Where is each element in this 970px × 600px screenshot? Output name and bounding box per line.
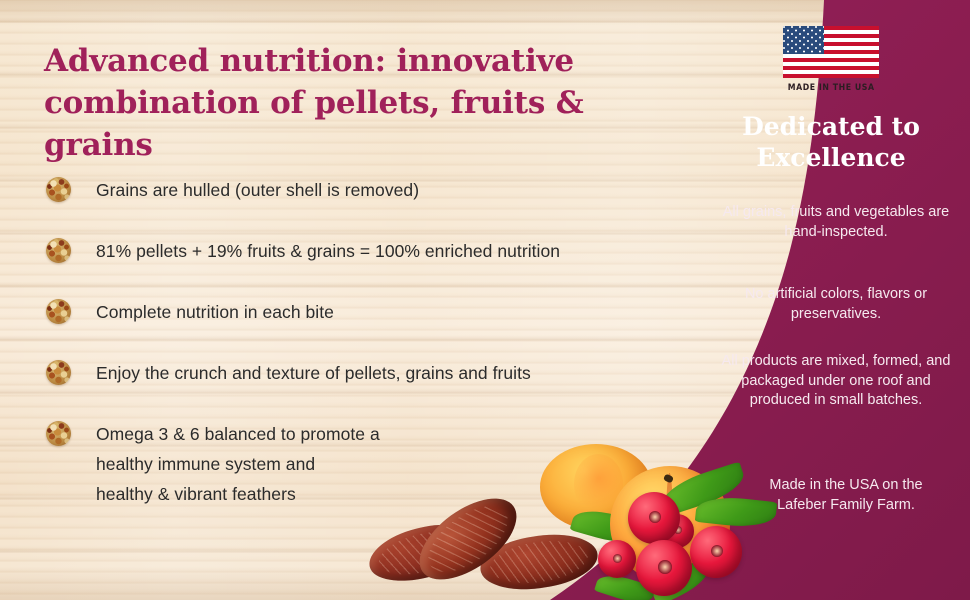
pellet-icon xyxy=(46,360,71,385)
list-item-label: Grains are hulled (outer shell is remove… xyxy=(96,175,684,205)
panel-heading-line-1: Dedicated to xyxy=(692,112,970,143)
headline-line-2: combination of pellets, fruits & grains xyxy=(44,82,684,166)
page-title: Advanced nutrition: innovative combinati… xyxy=(44,40,684,166)
usa-flag-icon xyxy=(783,26,879,78)
list-item-label: Enjoy the crunch and texture of pellets,… xyxy=(96,358,684,388)
list-item-line: Enjoy the crunch and texture of pellets,… xyxy=(96,358,684,388)
list-item-line: 81% pellets + 19% fruits & grains = 100%… xyxy=(96,236,684,266)
list-item-line: Complete nutrition in each bite xyxy=(96,297,684,327)
list-item-label: 81% pellets + 19% fruits & grains = 100%… xyxy=(96,236,684,266)
pellet-icon xyxy=(46,177,71,202)
panel-heading: Dedicated to Excellence xyxy=(692,112,970,173)
flag-caption: MADE IN THE USA xyxy=(788,83,875,93)
flag-canton xyxy=(783,26,824,54)
right-info-panel: MADE IN THE USA Dedicated to Excellence … xyxy=(692,0,970,600)
panel-paragraph-3: All products are mixed, formed, and pack… xyxy=(720,352,952,411)
panel-paragraph-2: No artificial colors, flavors or preserv… xyxy=(720,285,952,324)
list-item-line: Grains are hulled (outer shell is remove… xyxy=(96,175,684,205)
headline-line-1: Advanced nutrition: innovative xyxy=(44,43,574,79)
list-item: Grains are hulled (outer shell is remove… xyxy=(44,175,684,236)
list-item: Complete nutrition in each bite xyxy=(44,297,684,358)
pellet-icon xyxy=(46,421,71,446)
list-item: 81% pellets + 19% fruits & grains = 100%… xyxy=(44,236,684,297)
cranberry-icon xyxy=(628,492,680,544)
panel-paragraph-1: All grains, fruits and vegetables are ha… xyxy=(720,203,952,242)
panel-paragraph-4: Made in the USA on the Lafeber Family Fa… xyxy=(752,476,940,515)
cranberry-icon xyxy=(598,540,636,578)
promo-banner: Advanced nutrition: innovative combinati… xyxy=(0,0,970,600)
list-item: Enjoy the crunch and texture of pellets,… xyxy=(44,358,684,419)
pellet-icon xyxy=(46,299,71,324)
pellet-icon xyxy=(46,238,71,263)
made-in-usa-badge: MADE IN THE USA xyxy=(692,26,970,93)
panel-heading-line-2: Excellence xyxy=(692,143,970,174)
list-item-label: Complete nutrition in each bite xyxy=(96,297,684,327)
flag-stars xyxy=(783,26,824,54)
cranberry-icon xyxy=(636,540,692,596)
